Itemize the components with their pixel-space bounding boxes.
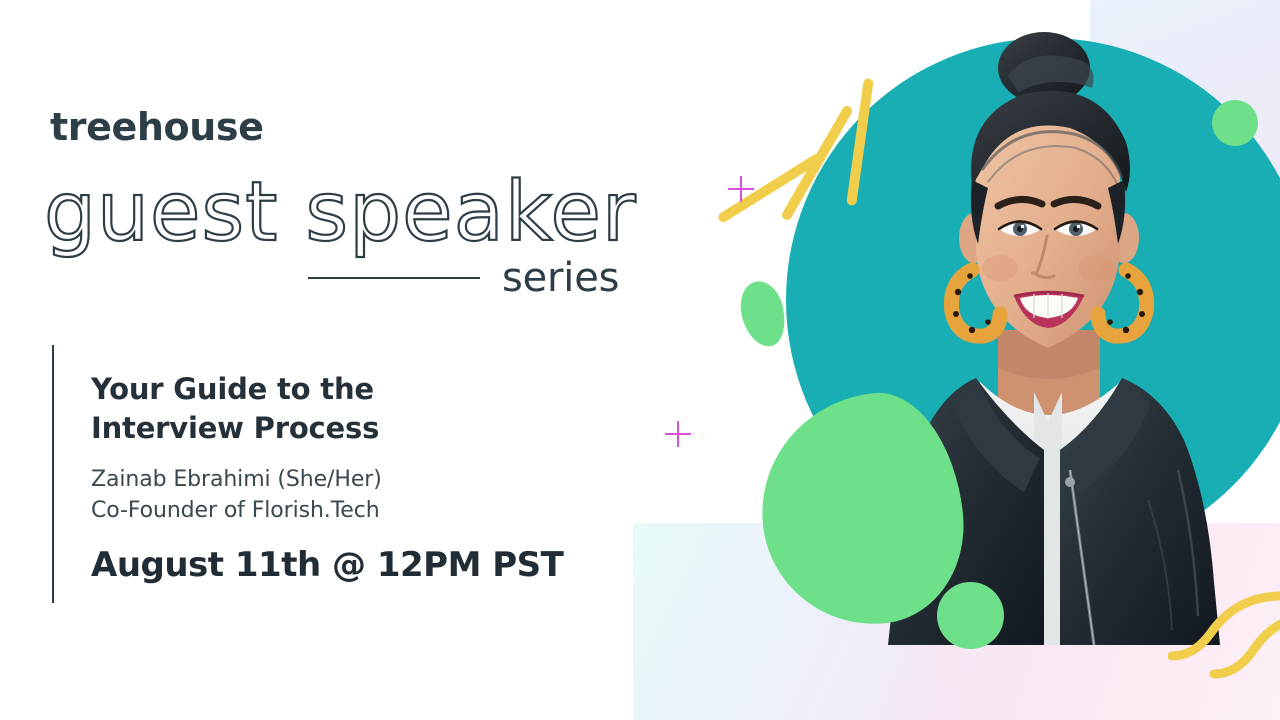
headline-guest-speaker: guest speaker [40,160,660,265]
brand-wordmark: treehouse [50,108,263,146]
series-row: series [308,258,619,298]
event-datetime: August 11th @ 12PM PST [91,545,651,585]
green-pill-shape [735,277,792,351]
event-info-block: Your Guide to the Interview Process Zain… [91,370,651,585]
talk-title-line-2: Interview Process [91,409,651,448]
speaker-role: Co-Founder of Florish.Tech [91,495,651,526]
svg-text:guest speaker: guest speaker [44,165,637,260]
green-dot-icon [937,582,1004,649]
series-label: series [502,258,619,298]
plus-mark-icon [665,421,691,447]
talk-title-line-1: Your Guide to the [91,370,651,409]
promo-slide: treehouse guest speaker series Your Guid… [0,0,1280,720]
series-divider [308,277,480,279]
plus-mark-icon [728,176,754,202]
accent-vertical-rule [52,345,54,603]
yellow-wavy-lines-icon [1168,570,1280,680]
speaker-name: Zainab Ebrahimi (She/Her) [91,464,651,495]
